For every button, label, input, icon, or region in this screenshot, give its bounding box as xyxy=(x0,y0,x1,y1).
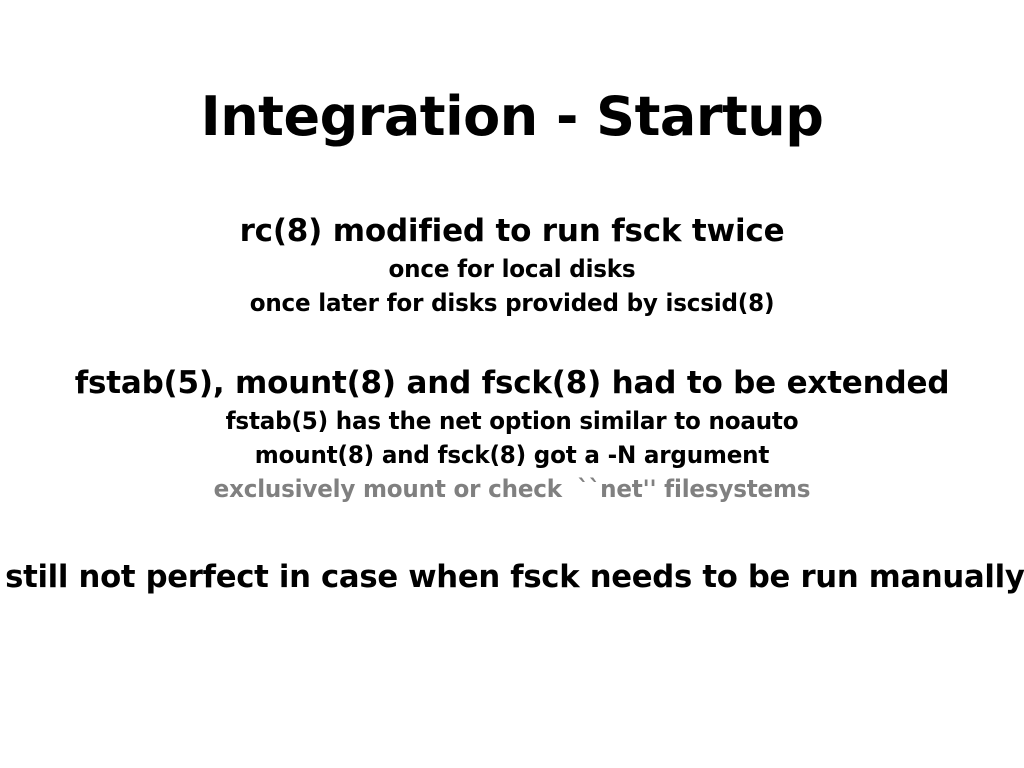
content-block-fstab: fstab(5), mount(8) and fsck(8) had to be… xyxy=(0,364,1024,506)
content-block-closing: still not perfect in case when fsck need… xyxy=(0,558,1024,598)
block-line: mount(8) and fsck(8) got a -N argument xyxy=(20,438,1003,472)
slide-body: rc(8) modified to run fsck twice once fo… xyxy=(0,212,1024,597)
block-heading: still not perfect in case when fsck need… xyxy=(5,558,1019,598)
block-line: once later for disks provided by iscsid(… xyxy=(20,286,1003,320)
slide: Integration - Startup rc(8) modified to … xyxy=(0,0,1024,768)
block-heading: rc(8) modified to run fsck twice xyxy=(0,212,1024,252)
slide-title: Integration - Startup xyxy=(0,88,1024,146)
block-heading: fstab(5), mount(8) and fsck(8) had to be… xyxy=(0,364,1024,404)
block-line-muted: exclusively mount or check ``net'' files… xyxy=(20,472,1003,506)
content-block-rc: rc(8) modified to run fsck twice once fo… xyxy=(0,212,1024,320)
block-line: fstab(5) has the net option similar to n… xyxy=(20,404,1003,438)
block-line: once for local disks xyxy=(20,252,1003,286)
